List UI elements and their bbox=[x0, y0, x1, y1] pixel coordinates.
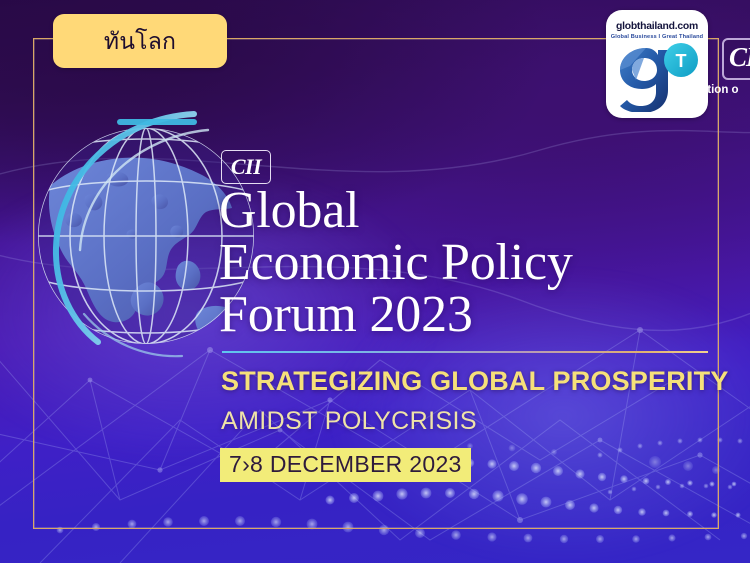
event-title: Global Economic Policy Forum 2023 bbox=[219, 185, 699, 341]
cii-logo: CII bbox=[221, 150, 271, 184]
title-divider bbox=[222, 351, 708, 353]
cii-logo-partial-text: CII bbox=[729, 42, 750, 73]
event-tagline-secondary: AMIDST POLYCRISIS bbox=[221, 407, 477, 436]
globthailand-t-letter: T bbox=[676, 51, 687, 71]
event-poster: ทันโลก globthailand.com Global Business … bbox=[0, 0, 750, 563]
event-title-line-3: Forum 2023 bbox=[219, 289, 699, 341]
thai-category-badge[interactable]: ทันโลก bbox=[53, 14, 227, 68]
thai-category-label: ทันโลก bbox=[104, 30, 176, 53]
cii-caption-partial: eration o bbox=[690, 84, 750, 96]
event-date-label: 7›8 DECEMBER 2023 bbox=[229, 451, 462, 477]
event-title-line-1: Global bbox=[219, 185, 699, 237]
event-tagline-primary: STRATEGIZING GLOBAL PROSPERITY bbox=[221, 366, 729, 397]
cii-logo-partial: CII bbox=[722, 38, 750, 80]
event-date-badge: 7›8 DECEMBER 2023 bbox=[220, 448, 471, 482]
cii-logo-text: CII bbox=[231, 156, 261, 179]
globthailand-site-name: globthailand.com bbox=[606, 21, 708, 32]
event-title-line-2: Economic Policy bbox=[219, 237, 699, 289]
globthailand-logo[interactable]: globthailand.com Global Business I Great… bbox=[606, 10, 708, 118]
globthailand-g-mark: T bbox=[606, 40, 708, 112]
